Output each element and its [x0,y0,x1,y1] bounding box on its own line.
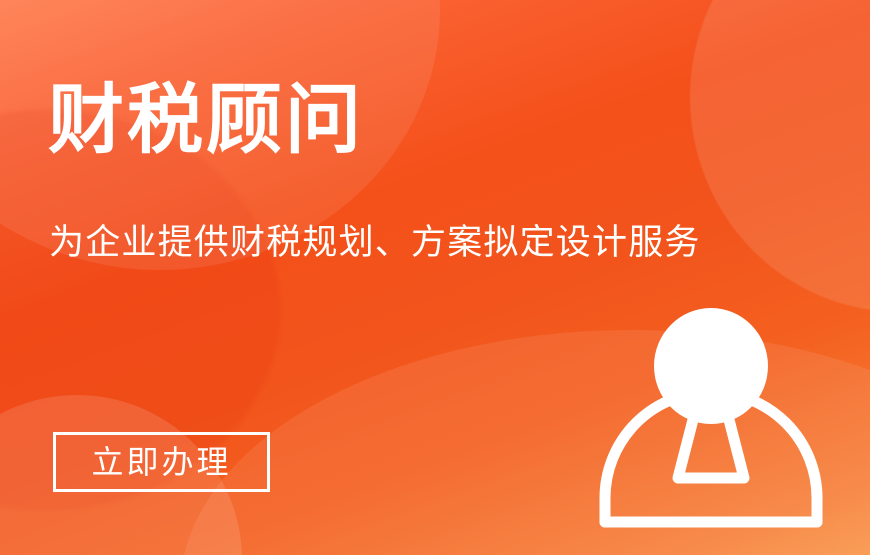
promo-banner: 财税顾问 为企业提供财税规划、方案拟定设计服务 立即办理 [0,0,870,555]
banner-headline: 财税顾问 [48,82,364,158]
apply-now-button[interactable]: 立即办理 [53,432,270,492]
banner-content: 财税顾问 为企业提供财税规划、方案拟定设计服务 立即办理 [0,0,870,555]
business-advisor-person-icon [592,300,832,532]
banner-subheadline: 为企业提供财税规划、方案拟定设计服务 [49,222,701,264]
